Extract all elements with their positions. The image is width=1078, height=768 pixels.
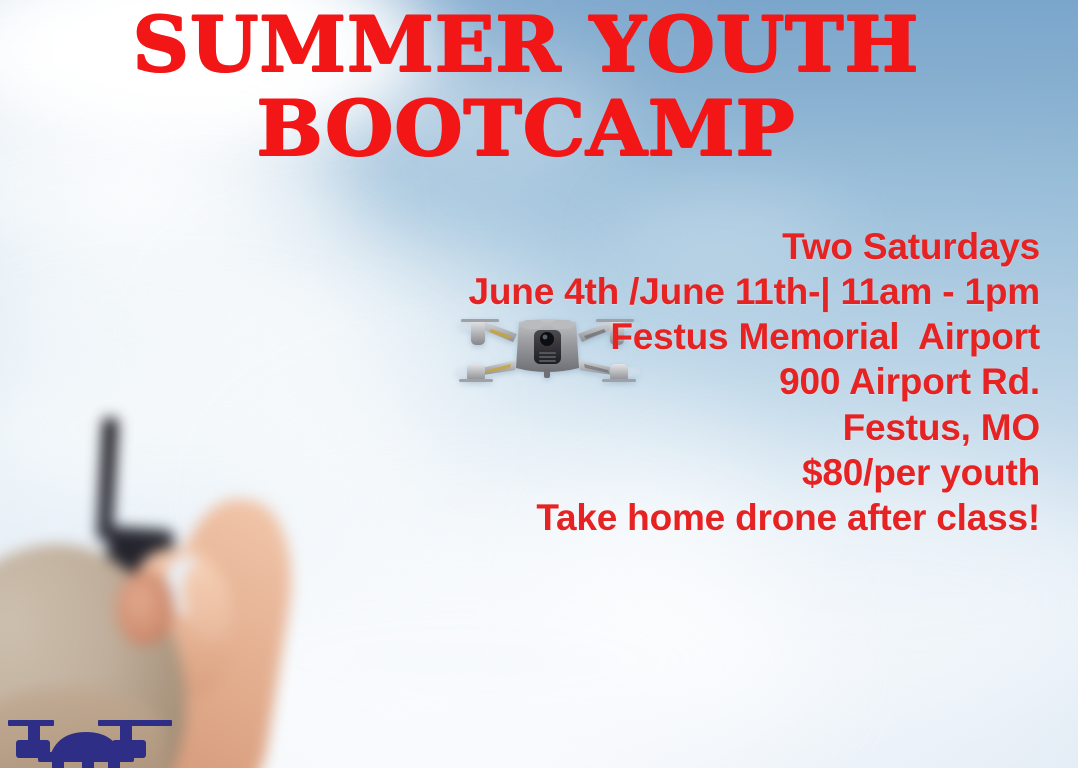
event-details: Two Saturdays June 4th /June 11th-| 11am… — [469, 224, 1040, 540]
drone-logo-icon — [8, 712, 172, 768]
boy-with-controller — [0, 348, 300, 768]
detail-street: 900 Airport Rd. — [469, 359, 1040, 404]
detail-price: $80/per youth — [469, 450, 1040, 495]
rc-controller-antenna — [97, 418, 118, 541]
event-flyer-poster: SUMMER YOUTH BOOTCAMP Two Saturdays June… — [0, 0, 1078, 768]
title-line-2: BOOTCAMP — [0, 92, 1068, 166]
detail-venue: Festus Memorial Airport — [469, 314, 1040, 359]
detail-perk: Take home drone after class! — [469, 495, 1040, 540]
detail-city-state: Festus, MO — [469, 405, 1040, 450]
ear — [116, 570, 174, 646]
detail-days: Two Saturdays — [469, 224, 1040, 269]
detail-dates-time: June 4th /June 11th-| 11am - 1pm — [469, 269, 1040, 314]
title-line-1: SUMMER YOUTH — [0, 8, 1068, 82]
page-title: SUMMER YOUTH BOOTCAMP — [0, 8, 1052, 167]
